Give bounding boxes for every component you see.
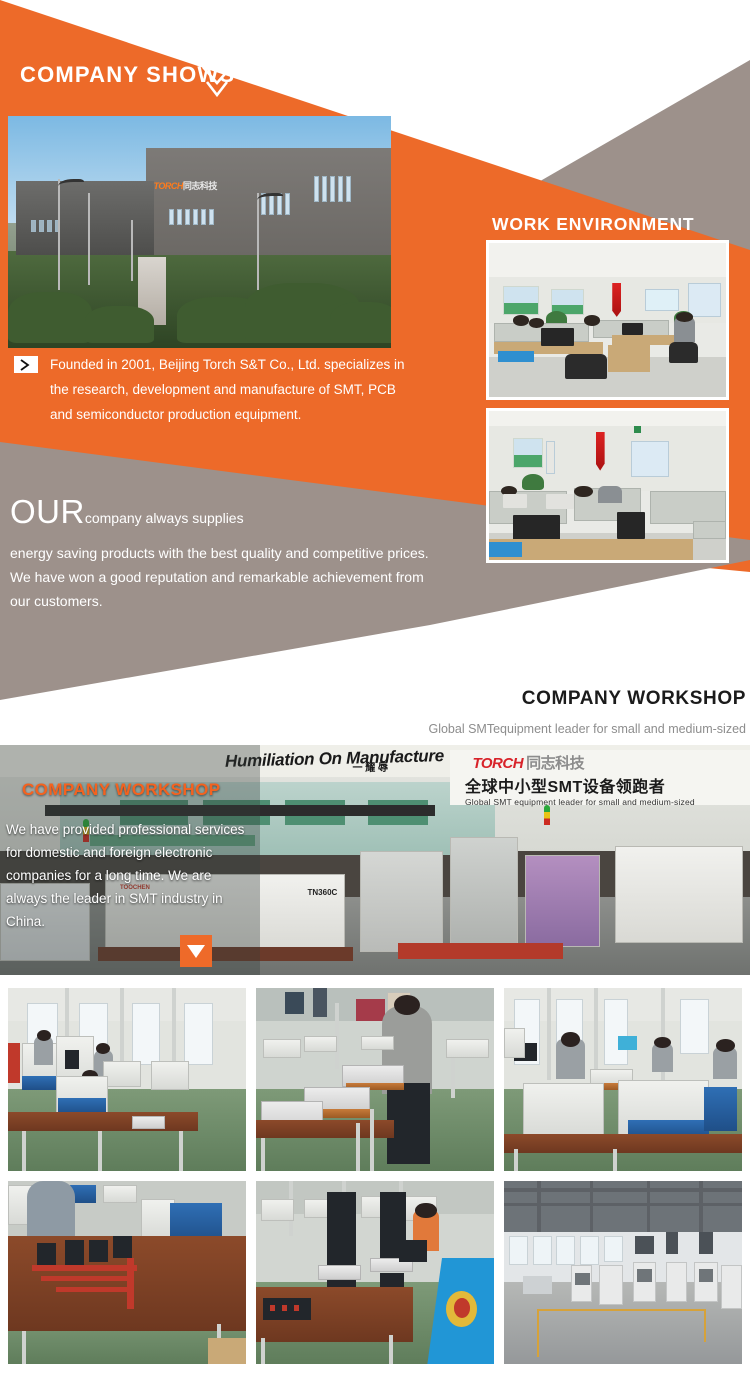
torch-headquarters-building-photo: TORCH同志科技 xyxy=(8,116,391,348)
office-open-plan-photo xyxy=(486,240,729,400)
press-machines-testing-photo xyxy=(256,1181,494,1364)
wall-banner-text-cn: 一 耀 辱 xyxy=(353,759,389,774)
double-chevron-down-icon xyxy=(200,64,234,104)
company-shows-section: COMPANY SHOWS TORCH同志科技 xyxy=(0,0,750,745)
wiring-harness-assembly-photo xyxy=(8,1181,246,1364)
our-company-paragraph-block: OURcompany always supplies energy saving… xyxy=(10,492,430,613)
worker-assembling-heater-plates-photo xyxy=(256,988,494,1171)
our-body-text: energy saving products with the best qua… xyxy=(10,541,430,613)
workshop-banner-title: COMPANY WORKSHOP xyxy=(22,780,220,800)
photo-grid-row xyxy=(8,1181,742,1364)
arrow-right-icon xyxy=(14,356,38,373)
assembly-line-workers-photo xyxy=(8,988,246,1171)
company-workshop-heading: COMPANY WORKSHOP xyxy=(522,688,746,710)
workshop-banner-paragraph: We have provided professional services f… xyxy=(6,818,251,933)
factory-floor-overview-photo xyxy=(504,1181,742,1364)
torch-sign-headline-cn: 全球中小型SMT设备领跑者 xyxy=(465,773,665,797)
workshop-banner-photo: Humiliation On Manufacture 一 耀 辱 TORCH同志… xyxy=(0,745,750,975)
building-sign-logo: TORCH同志科技 xyxy=(154,179,217,192)
our-lead-word: OUR xyxy=(10,493,85,530)
founded-paragraph-text: Founded in 2001, Beijing Torch S&T Co., … xyxy=(50,352,414,427)
founded-paragraph-block: Founded in 2001, Beijing Torch S&T Co., … xyxy=(14,352,414,427)
torch-sign-logo: TORCH同志科技 xyxy=(473,752,585,773)
finished-units-on-bench-photo xyxy=(504,988,742,1171)
work-environment-title: WORK ENVIRONMENT xyxy=(492,214,694,235)
company-workshop-subtitle: Global SMTequipment leader for small and… xyxy=(428,722,746,736)
photo-grid-row xyxy=(8,988,742,1171)
office-cubicles-photo xyxy=(486,408,729,563)
torch-sign-headline-en: Global SMT equipment leader for small an… xyxy=(465,797,695,807)
our-lead-rest: company always supplies xyxy=(85,510,244,526)
machine-label-tn360c: TN360C xyxy=(308,888,338,897)
workshop-photo-grid xyxy=(8,988,742,1364)
triangle-down-icon[interactable] xyxy=(180,935,212,967)
